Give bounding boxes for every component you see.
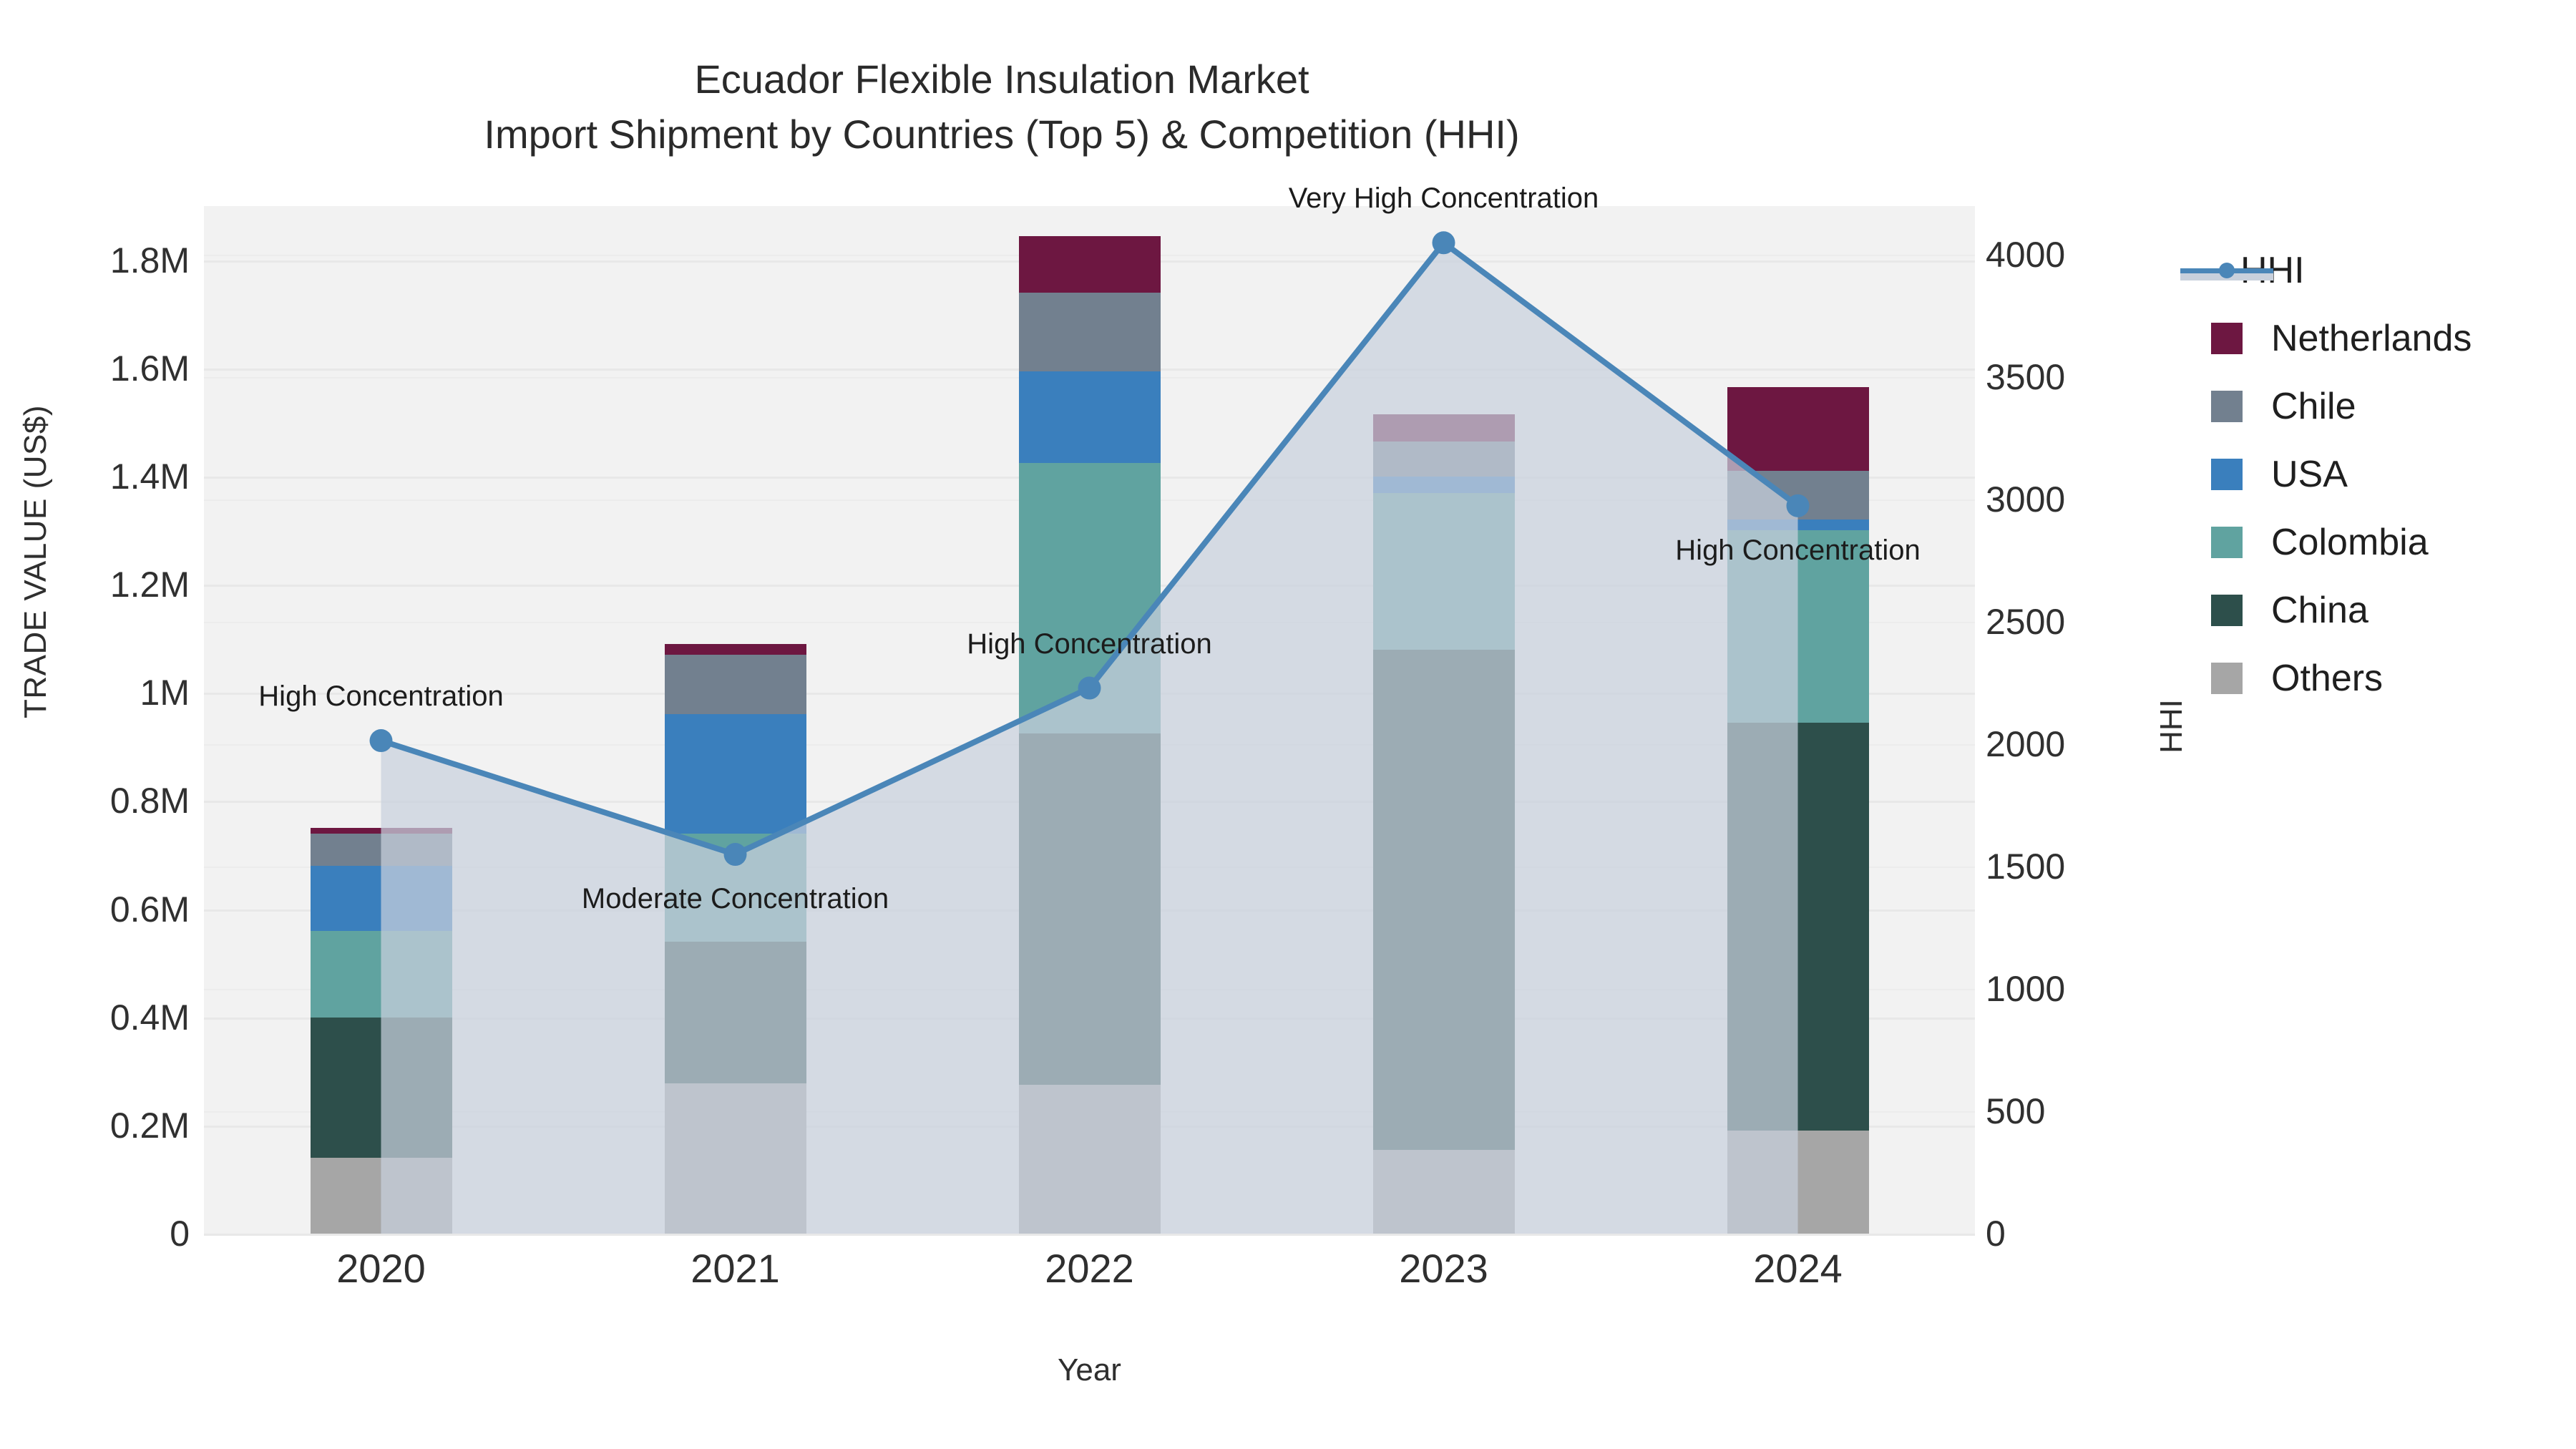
legend-label: Others xyxy=(2271,657,2383,700)
y-left-tick-label: 0.4M xyxy=(110,997,190,1038)
plot-area: High ConcentrationModerate Concentration… xyxy=(204,206,1975,1234)
legend-swatch-icon xyxy=(2211,527,2243,558)
hhi-overlay xyxy=(204,206,1975,1234)
y-left-tick-label: 0 xyxy=(170,1213,190,1254)
y-axis-right-title: HHI xyxy=(2154,655,2190,798)
legend-item-chile[interactable]: Chile xyxy=(2211,372,2569,440)
x-tick-label-2024: 2024 xyxy=(1753,1245,1843,1292)
y-left-tick-label: 0.8M xyxy=(110,780,190,821)
legend-swatch-icon xyxy=(2211,459,2243,490)
legend-item-usa[interactable]: USA xyxy=(2211,440,2569,508)
plot-inner: High ConcentrationModerate Concentration… xyxy=(204,206,1975,1234)
hhi-marker-2024[interactable] xyxy=(1787,494,1810,517)
y-left-tick-label: 0.2M xyxy=(110,1105,190,1146)
gridline-trade-value xyxy=(204,1234,1975,1236)
x-axis-title: Year xyxy=(204,1352,1975,1388)
legend-swatch-icon xyxy=(2211,391,2243,422)
legend-label: Colombia xyxy=(2271,521,2429,564)
legend-item-hhi[interactable]: HHI xyxy=(2211,236,2569,304)
legend-item-china[interactable]: China xyxy=(2211,576,2569,644)
hhi-marker-2021[interactable] xyxy=(724,843,747,866)
y-left-tick-label: 1.6M xyxy=(110,348,190,389)
chart-title-block: Ecuador Flexible Insulation Market Impor… xyxy=(0,52,2004,162)
y-axis-left-ticks: 00.2M0.4M0.6M0.8M1M1.2M1.4M1.6M1.8M xyxy=(0,206,190,1234)
hhi-area-fill xyxy=(381,243,1798,1234)
x-tick-label-2021: 2021 xyxy=(691,1245,780,1292)
y-right-tick-label: 3000 xyxy=(1986,479,2065,520)
legend-label: China xyxy=(2271,589,2368,632)
y-right-tick-label: 500 xyxy=(1986,1091,2045,1132)
chart-title: Ecuador Flexible Insulation Market xyxy=(0,52,2004,107)
y-left-tick-label: 1M xyxy=(140,672,190,713)
legend-label: USA xyxy=(2271,453,2348,496)
legend-swatch-icon xyxy=(2211,663,2243,694)
hhi-marker-2023[interactable] xyxy=(1433,231,1455,254)
x-tick-label-2023: 2023 xyxy=(1399,1245,1488,1292)
y-left-tick-label: 1.2M xyxy=(110,564,190,605)
x-axis-ticks: 20202021202220232024 xyxy=(204,1245,1975,1309)
hhi-marker-2020[interactable] xyxy=(370,729,393,752)
x-tick-label-2020: 2020 xyxy=(336,1245,426,1292)
y-axis-right-ticks: 05001000150020002500300035004000 xyxy=(1986,206,2172,1234)
hhi-marker-2022[interactable] xyxy=(1078,677,1101,700)
chart-subtitle: Import Shipment by Countries (Top 5) & C… xyxy=(0,107,2004,162)
legend-item-others[interactable]: Others xyxy=(2211,644,2569,712)
legend-item-colombia[interactable]: Colombia xyxy=(2211,508,2569,576)
legend-line-marker-icon xyxy=(2180,255,2273,286)
legend-label: Netherlands xyxy=(2271,317,2472,360)
x-tick-label-2022: 2022 xyxy=(1045,1245,1134,1292)
y-right-tick-label: 1000 xyxy=(1986,968,2065,1010)
legend-swatch-icon xyxy=(2211,323,2243,354)
y-right-tick-label: 2000 xyxy=(1986,723,2065,765)
y-left-tick-label: 1.4M xyxy=(110,456,190,497)
y-right-tick-label: 2500 xyxy=(1986,601,2065,643)
chart-legend: HHINetherlandsChileUSAColombiaChinaOther… xyxy=(2211,236,2569,712)
legend-label: Chile xyxy=(2271,385,2356,428)
y-left-tick-label: 0.6M xyxy=(110,889,190,930)
y-right-tick-label: 3500 xyxy=(1986,356,2065,398)
legend-item-netherlands[interactable]: Netherlands xyxy=(2211,304,2569,372)
legend-swatch-icon xyxy=(2211,595,2243,626)
y-right-tick-label: 1500 xyxy=(1986,846,2065,887)
y-left-tick-label: 1.8M xyxy=(110,240,190,281)
y-right-tick-label: 4000 xyxy=(1986,234,2065,275)
y-right-tick-label: 0 xyxy=(1986,1213,2006,1254)
